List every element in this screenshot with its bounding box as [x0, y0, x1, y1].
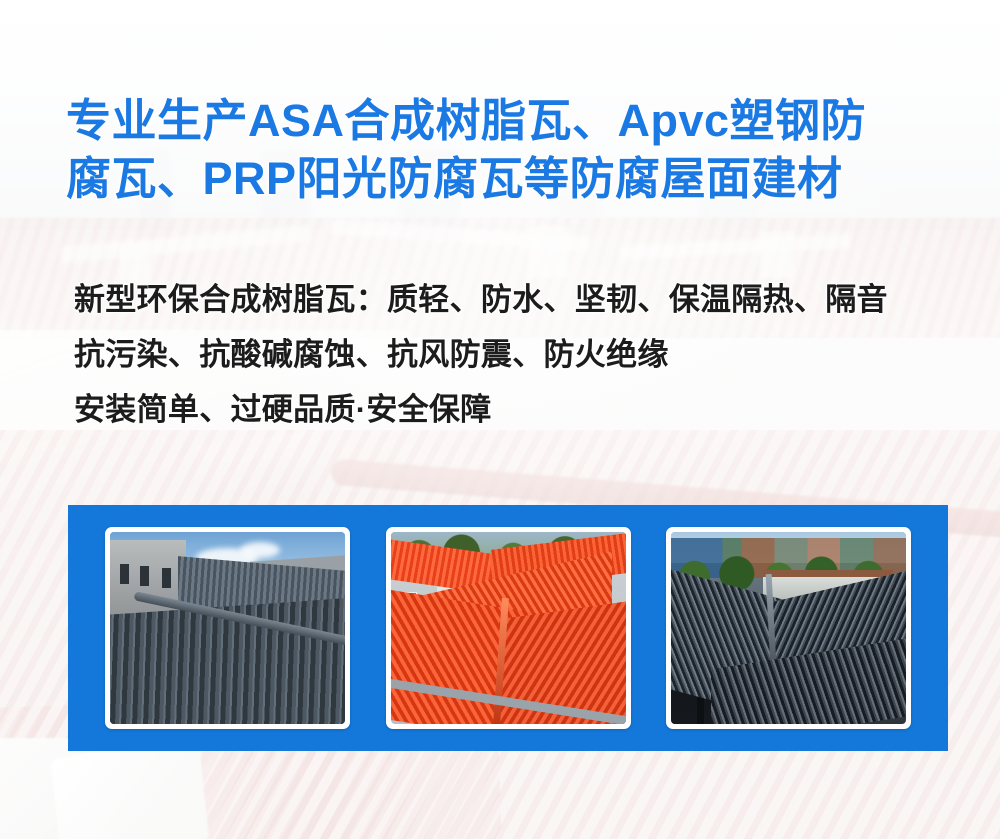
headline-line-1: 专业生产ASA合成树脂瓦、Apvc塑钢防 [66, 92, 946, 150]
photo-red-tile-roof-complex [391, 532, 626, 724]
photo1-cloud [240, 542, 280, 558]
photo1-window [140, 566, 149, 586]
promo-banner: 专业生产ASA合成树脂瓦、Apvc塑钢防 腐瓦、PRP阳光防腐瓦等防腐屋面建材 … [0, 0, 1000, 839]
subheadline: 新型环保合成树脂瓦：质轻、防水、坚韧、保温隔热、隔音 抗污染、抗酸碱腐蚀、抗风防… [74, 272, 964, 437]
photo1-window [162, 568, 171, 588]
headline: 专业生产ASA合成树脂瓦、Apvc塑钢防 腐瓦、PRP阳光防腐瓦等防腐屋面建材 [66, 92, 946, 208]
subheadline-line-3: 安装简单、过硬品质·安全保障 [74, 382, 964, 437]
photo-dark-tile-roof-aerial [671, 532, 906, 724]
photo-frame-3[interactable] [666, 527, 911, 729]
banner-content: 专业生产ASA合成树脂瓦、Apvc塑钢防 腐瓦、PRP阳光防腐瓦等防腐屋面建材 … [0, 0, 1000, 839]
photo-frame-1[interactable] [105, 527, 350, 729]
photo1-window [120, 564, 129, 584]
photo-grey-barrel-tile-roof [110, 532, 345, 724]
subheadline-line-2: 抗污染、抗酸碱腐蚀、抗风防震、防火绝缘 [74, 327, 964, 382]
product-photo-gallery [68, 505, 948, 751]
headline-line-2: 腐瓦、PRP阳光防腐瓦等防腐屋面建材 [66, 150, 946, 208]
subheadline-line-1: 新型环保合成树脂瓦：质轻、防水、坚韧、保温隔热、隔音 [74, 272, 964, 327]
photo-frame-2[interactable] [386, 527, 631, 729]
